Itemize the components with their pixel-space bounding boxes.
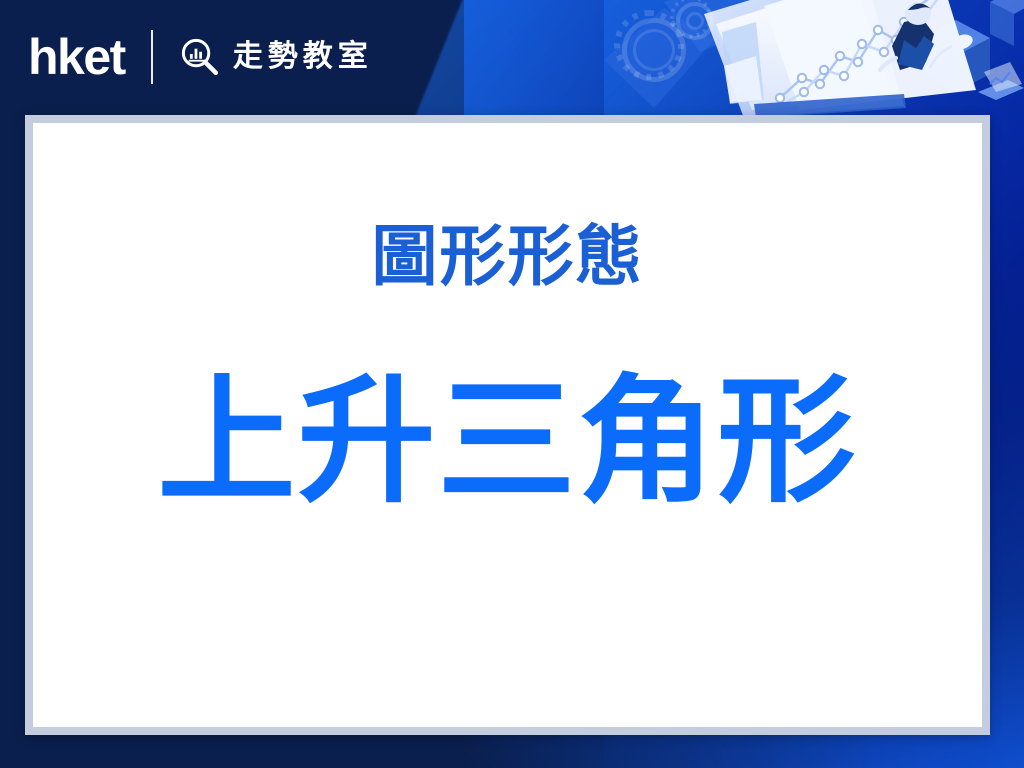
brand-name-label: 走勢教室 — [233, 42, 373, 72]
hket-logo: hket — [28, 32, 125, 82]
logo-divider — [151, 30, 153, 84]
magnifier-chart-icon — [179, 36, 221, 78]
content-card: 圖形形態 上升三角形 — [25, 115, 990, 735]
presentation-slide: hket 走勢教室 圖形形態 上升三角形 — [0, 0, 1024, 768]
slide-header: hket 走勢教室 — [0, 0, 1024, 116]
content-card-inner: 圖形形態 上升三角形 — [33, 123, 982, 727]
slide-headline: 上升三角形 — [33, 373, 982, 511]
slide-subtitle: 圖形形態 — [33, 223, 982, 289]
brand-lockup: hket 走勢教室 — [28, 26, 373, 88]
